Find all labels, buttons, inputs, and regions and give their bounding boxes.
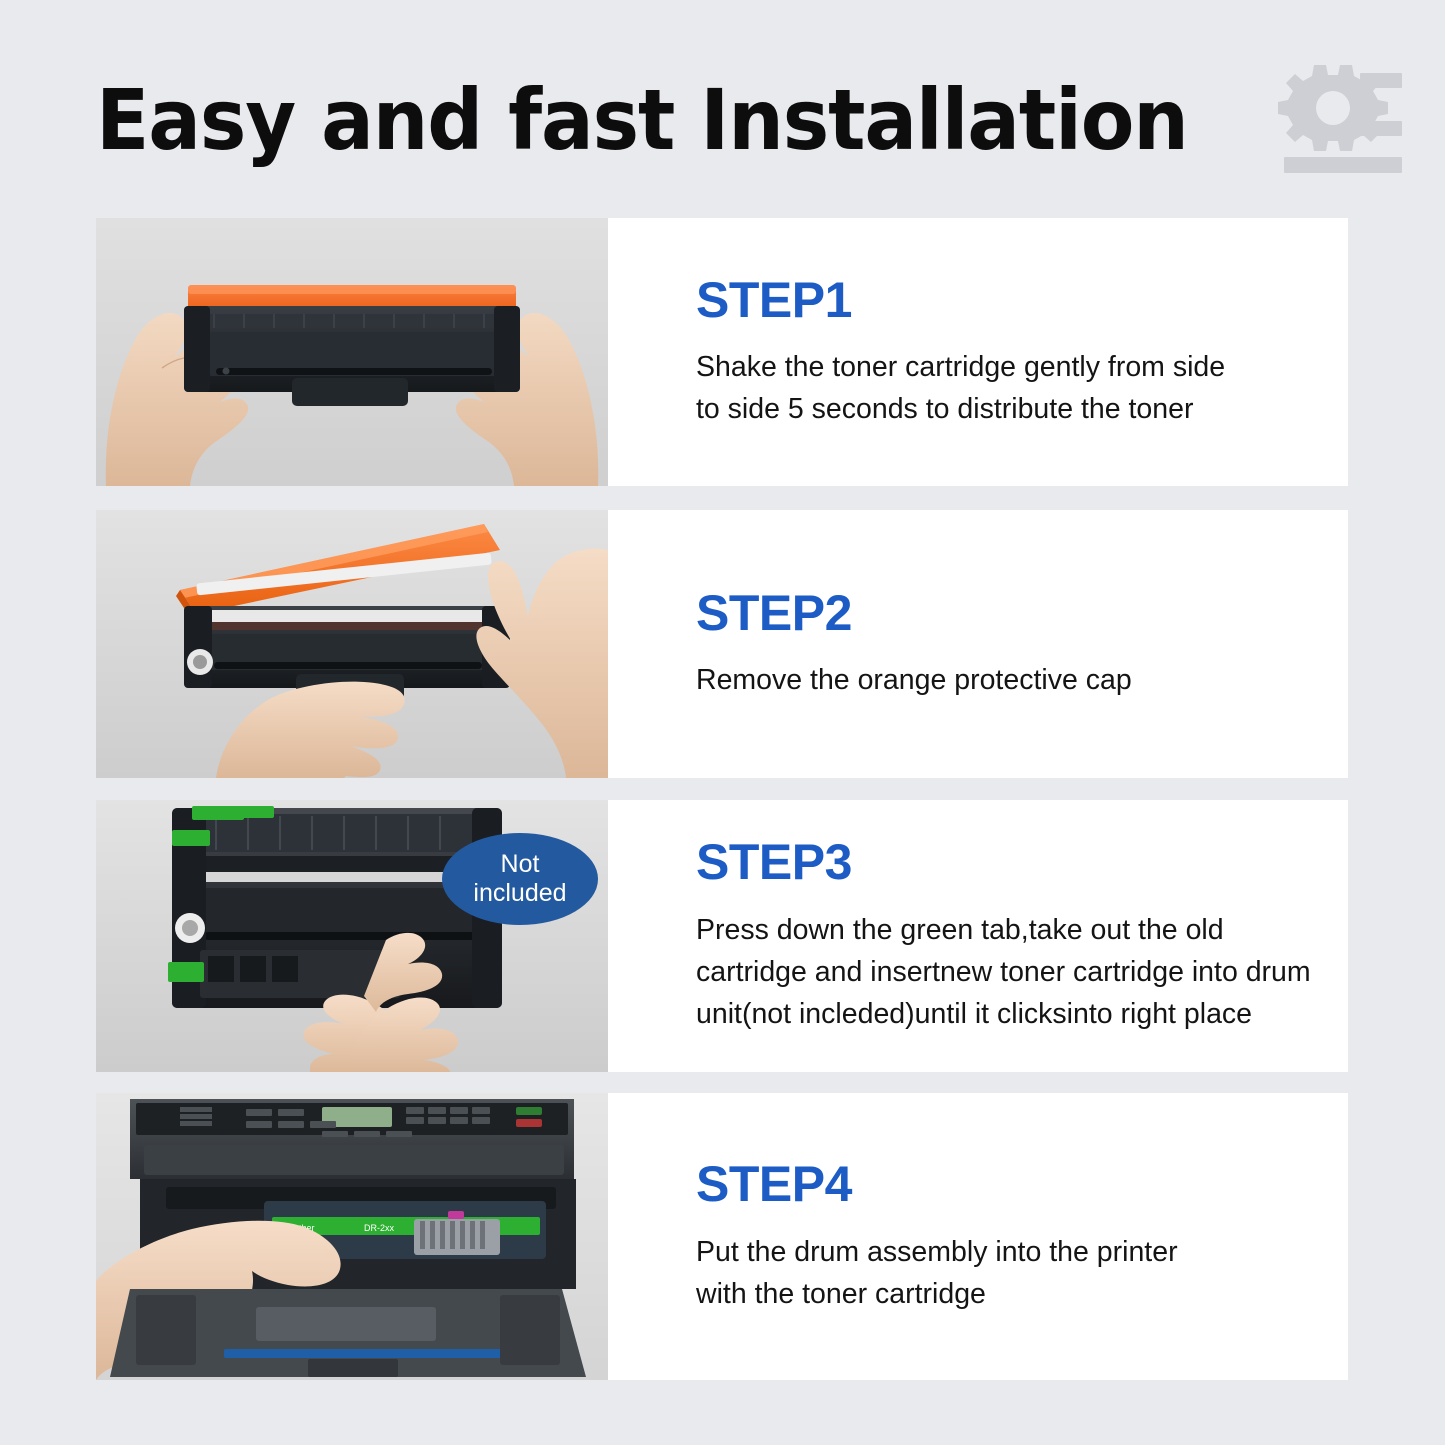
step-heading-4: STEP4 xyxy=(696,1158,1318,1211)
step-desc-line: cartridge and insertnew toner cartridge … xyxy=(696,951,1318,993)
step-photo-1 xyxy=(96,218,608,486)
step-card-3: Not included STEP3 Press down the green … xyxy=(96,800,1348,1072)
step-description-2: Remove the orange protective cap xyxy=(696,659,1318,701)
step-desc-line: Remove the orange protective cap xyxy=(696,659,1318,701)
page-title: Easy and fast Installation xyxy=(96,78,1188,162)
step-heading-2: STEP2 xyxy=(696,587,1318,640)
step-desc-line: to side 5 seconds to distribute the tone… xyxy=(696,388,1318,430)
badge-line-2: included xyxy=(473,879,566,909)
step-desc-line: unit(not incleded)until it clicksinto ri… xyxy=(696,993,1318,1035)
not-included-badge: Not included xyxy=(442,833,598,925)
step-photo-2 xyxy=(96,510,608,778)
step-desc-line: Put the drum assembly into the printer xyxy=(696,1231,1318,1273)
step-text-1: STEP1 Shake the toner cartridge gently f… xyxy=(608,218,1348,486)
step-description-1: Shake the toner cartridge gently from si… xyxy=(696,346,1318,430)
step-text-4: STEP4 Put the drum assembly into the pri… xyxy=(608,1093,1348,1380)
step-card-2: STEP2 Remove the orange protective cap xyxy=(96,510,1348,778)
badge-line-1: Not xyxy=(501,850,540,880)
installation-guide-page: Easy and fast Installation xyxy=(0,0,1445,1445)
step-desc-line: Shake the toner cartridge gently from si… xyxy=(696,346,1318,388)
step-text-3: STEP3 Press down the green tab,take out … xyxy=(608,800,1348,1072)
svg-text:DR-2xx: DR-2xx xyxy=(364,1223,395,1233)
step-photo-4: brother DR-2xx xyxy=(96,1093,608,1380)
step-card-1: STEP1 Shake the toner cartridge gently f… xyxy=(96,218,1348,486)
step-description-3: Press down the green tab,take out the ol… xyxy=(696,909,1318,1036)
step-desc-line: with the toner cartridge xyxy=(696,1273,1318,1315)
step-desc-line: Press down the green tab,take out the ol… xyxy=(696,909,1318,951)
page-header: Easy and fast Installation xyxy=(96,55,1348,185)
gear-settings-icon xyxy=(1270,61,1402,179)
step-description-4: Put the drum assembly into the printer w… xyxy=(696,1231,1318,1315)
step-heading-3: STEP3 xyxy=(696,836,1318,889)
step-photo-3: Not included xyxy=(96,800,608,1072)
step-text-2: STEP2 Remove the orange protective cap xyxy=(608,510,1348,778)
step-heading-1: STEP1 xyxy=(696,274,1318,327)
step-card-4: brother DR-2xx xyxy=(96,1093,1348,1380)
